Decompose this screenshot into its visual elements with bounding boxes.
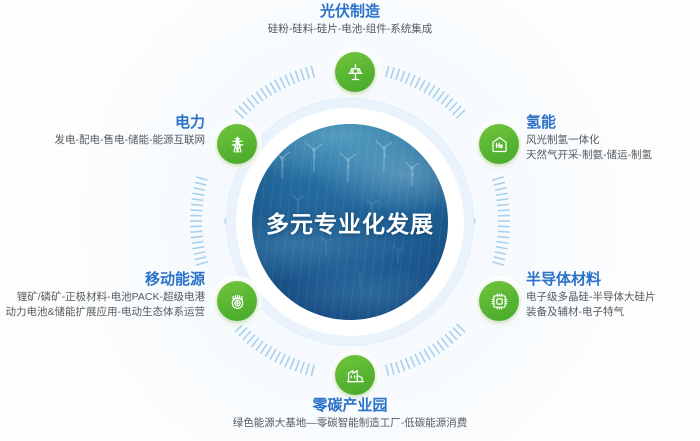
sector-line: 动力电池&储能扩展应用-电动生态体系运营 — [0, 305, 205, 320]
sector-title: 电力 — [0, 113, 205, 133]
node-photovoltaic-manufacturing[interactable] — [335, 52, 375, 92]
sector-title: 光伏制造 — [200, 2, 500, 22]
factory-buildings-icon — [345, 365, 366, 386]
transmission-tower-icon — [227, 134, 248, 155]
node-zero-carbon-industrial-park[interactable] — [335, 355, 375, 395]
battery-cell-icon — [227, 291, 248, 312]
chip-icon — [489, 291, 510, 312]
sector-line: 电子级多晶硅-半导体大硅片 — [526, 290, 656, 305]
sector-title: 移动能源 — [0, 270, 205, 290]
sector-title: 氢能 — [526, 113, 652, 133]
sector-line: 锂矿/磷矿-正极材料-电池PACK-超级电港 — [0, 290, 205, 305]
center-title: 多元专业化发展 — [252, 124, 448, 320]
sector-line: 绿色能源大基地—零碳智能制造工厂-低碳能源消费 — [170, 416, 530, 431]
sector-line: 发电-配电-售电-储能-能源互联网 — [0, 133, 205, 148]
node-mobile-energy[interactable] — [217, 281, 257, 321]
sector-line: 天然气开采-制氨-储运-制氢 — [526, 148, 652, 163]
label-mobile-energy: 移动能源 锂矿/磷矿-正极材料-电池PACK-超级电港 动力电池&储能扩展应用-… — [0, 270, 205, 320]
sector-title: 半导体材料 — [526, 270, 656, 290]
label-hydrogen-energy: 氢能 风光制氢一体化 天然气开采-制氨-储运-制氢 — [526, 113, 652, 163]
hydrogen-h2-icon — [489, 134, 510, 155]
node-hydrogen-energy[interactable] — [479, 124, 519, 164]
sector-line: 硅粉-硅料-硅片-电池-组件-系统集成 — [200, 22, 500, 37]
infographic-canvas: 多元专业化发展 — [0, 0, 700, 441]
solar-panel-icon — [345, 62, 366, 83]
sector-line: 风光制氢一体化 — [526, 133, 652, 148]
sector-title: 零碳产业园 — [170, 396, 530, 416]
label-photovoltaic-manufacturing: 光伏制造 硅粉-硅料-硅片-电池-组件-系统集成 — [200, 2, 500, 37]
label-zero-carbon-industrial-park: 零碳产业园 绿色能源大基地—零碳智能制造工厂-低碳能源消费 — [170, 396, 530, 431]
sector-line: 装备及辅材-电子特气 — [526, 305, 656, 320]
label-electric-power: 电力 发电-配电-售电-储能-能源互联网 — [0, 113, 205, 148]
node-electric-power[interactable] — [217, 124, 257, 164]
label-semiconductor-materials: 半导体材料 电子级多晶硅-半导体大硅片 装备及辅材-电子特气 — [526, 270, 656, 320]
node-semiconductor-materials[interactable] — [479, 281, 519, 321]
